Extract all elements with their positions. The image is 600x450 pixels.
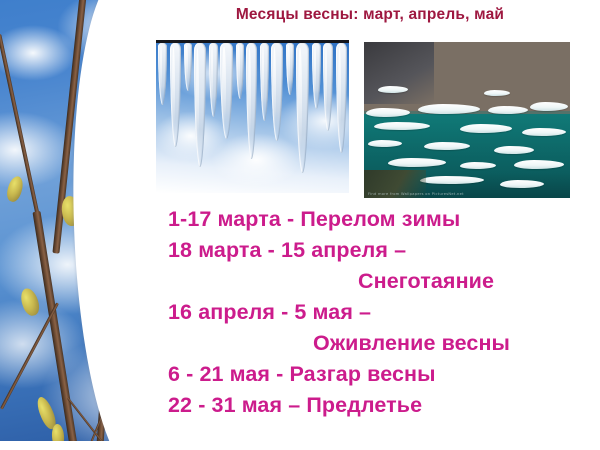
page-title: Месяцы весны: март, апрель, май — [150, 6, 590, 24]
icicle — [246, 43, 257, 159]
period-line: 16 апреля - 5 мая – — [168, 297, 588, 328]
period-line: 18 марта - 15 апреля – — [168, 235, 588, 266]
icicle — [158, 43, 167, 105]
icicle — [236, 43, 244, 99]
icicle — [296, 43, 309, 173]
photo-ice-floes: Find more from Wallpapers on PicturesNet… — [362, 40, 572, 200]
photo-watermark-caption: Find more from Wallpapers on PicturesNet… — [368, 192, 464, 196]
icicle — [184, 43, 192, 91]
icicle — [312, 43, 321, 109]
icicle — [271, 43, 283, 141]
icicle — [220, 43, 233, 139]
icicle — [260, 43, 269, 121]
icicle — [170, 43, 181, 147]
photo-icicles — [156, 40, 349, 193]
icicle — [194, 43, 206, 167]
period-line: 1-17 марта - Перелом зимы — [168, 204, 588, 235]
icicle — [336, 43, 347, 153]
period-line: Оживление весны — [168, 328, 588, 359]
period-line: 22 - 31 мая – Предлетье — [168, 390, 588, 421]
period-line: 6 - 21 мая - Разгар весны — [168, 359, 588, 390]
icicle — [286, 43, 294, 95]
spring-months-slide: Месяцы весны: март, апрель, май — [0, 0, 600, 450]
left-photo-budding-branches — [0, 0, 150, 441]
cliff-shadow — [364, 42, 434, 104]
icicle — [323, 43, 333, 131]
spring-periods-list: 1-17 марта - Перелом зимы 18 марта - 15 … — [168, 204, 588, 421]
period-line: Снеготаяние — [168, 266, 588, 297]
icicle — [209, 43, 218, 117]
